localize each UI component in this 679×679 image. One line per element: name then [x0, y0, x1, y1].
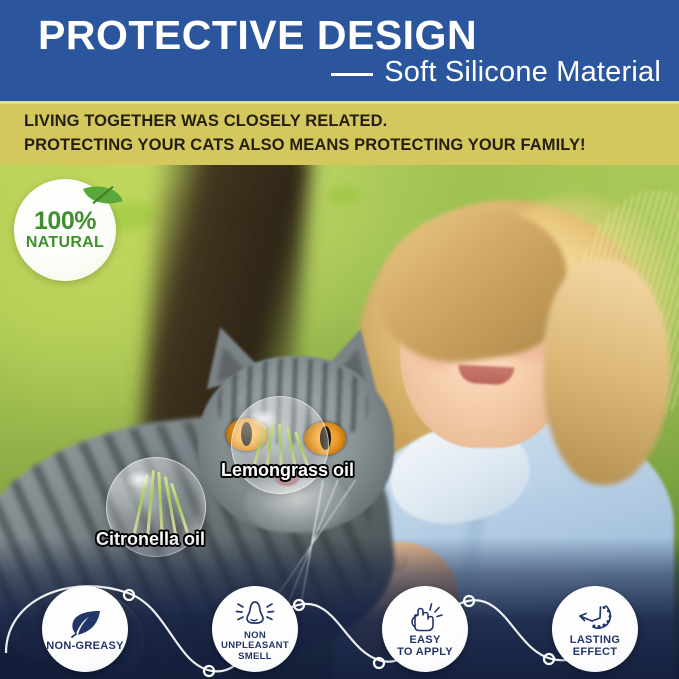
- feature-label-line-1: NON-GREASY: [46, 641, 124, 653]
- gold-banner-line-2: PROTECTING YOUR CATS ALSO MEANS PROTECTI…: [24, 136, 586, 155]
- natural-badge: 100% NATURAL: [14, 179, 116, 281]
- feature-label-line-2: EFFECT: [573, 647, 618, 659]
- natural-badge-word: NATURAL: [26, 234, 104, 252]
- leaf-icon: [67, 606, 103, 640]
- gold-message-banner: LIVING TOGETHER WAS CLOSELY RELATED. PRO…: [0, 101, 679, 165]
- feature-badge-easy-to-apply[interactable]: EASY TO APPLY: [382, 586, 468, 672]
- product-infographic: PROTECTIVE DESIGN Soft Silicone Material…: [0, 0, 679, 679]
- ingredient-label-lemongrass: Lemongrass oil: [221, 460, 354, 481]
- clock-arrow-icon: [575, 600, 615, 634]
- feature-badge-non-unpleasant-smell[interactable]: NON UNPLEASANT SMELL: [212, 586, 298, 672]
- feature-badge-lasting-effect[interactable]: LASTING EFFECT: [552, 586, 638, 672]
- feature-badge-non-greasy[interactable]: NON-GREASY: [42, 586, 128, 672]
- feature-label-line-1: LASTING: [570, 635, 620, 647]
- header-banner: PROTECTIVE DESIGN Soft Silicone Material: [0, 0, 679, 101]
- nose-icon: [233, 596, 277, 630]
- page-title: PROTECTIVE DESIGN: [38, 11, 477, 59]
- header-subtitle-group: Soft Silicone Material: [331, 56, 661, 89]
- lifestyle-photo: Lemongrass oil Citronella oil Clove oil …: [0, 165, 679, 679]
- girl-hair-side: [544, 260, 670, 485]
- feature-label-line-3: SMELL: [238, 652, 272, 663]
- header-subtitle: Soft Silicone Material: [384, 56, 661, 89]
- gold-banner-line-1: LIVING TOGETHER WAS CLOSELY RELATED.: [24, 112, 387, 131]
- feature-label-line-2: TO APPLY: [397, 647, 453, 659]
- feature-badge-row: NON-GREASY NON UNPLEASANT SMELL: [0, 579, 679, 679]
- dash-divider-icon: [331, 73, 373, 76]
- snapping-hand-icon: [406, 600, 444, 634]
- natural-badge-percent: 100%: [34, 209, 96, 234]
- feature-label-line-1: EASY: [409, 635, 440, 647]
